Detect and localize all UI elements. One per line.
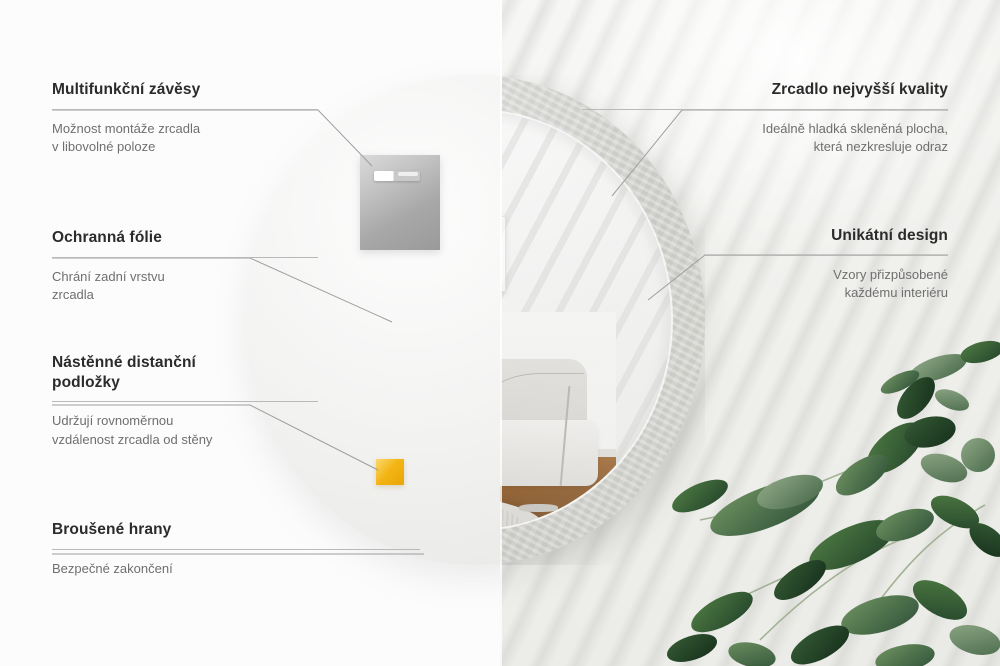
mirror-glass <box>500 111 671 529</box>
reflected-lamp-arc <box>500 373 584 447</box>
feature-block-design: Unikátní design Vzory přizpůsobené každé… <box>705 226 948 303</box>
feature-rule-hangers <box>52 109 318 110</box>
feature-title-film: Ochranná fólie <box>52 228 318 248</box>
infographic-canvas: Multifunkční závěsy Možnost montáže zrca… <box>0 0 1000 666</box>
feature-block-film: Ochranná fólie Chrání zadní vrstvu zrcad… <box>52 228 318 305</box>
feature-block-hangers: Multifunkční závěsy Možnost montáže zrca… <box>52 80 318 157</box>
feature-block-quality: Zrcadlo nejvyšší kvality Ideálně hladká … <box>582 80 948 157</box>
feature-title-quality: Zrcadlo nejvyšší kvality <box>582 80 948 100</box>
yellow-spacer-pad-part <box>376 459 404 485</box>
feature-desc-quality: Ideálně hladká skleněná plocha, která ne… <box>582 120 948 158</box>
feature-desc-hangers: Možnost montáže zrcadla v libovolné polo… <box>52 120 318 158</box>
feature-rule-edges <box>52 549 420 550</box>
hanger-slot-detail <box>374 171 420 181</box>
feature-rule-quality <box>582 109 948 110</box>
feature-desc-edges: Bezpečné zakončení <box>52 560 420 579</box>
split-divider <box>500 0 502 666</box>
reflected-lamp-base <box>519 504 559 512</box>
feature-rule-film <box>52 257 318 258</box>
feature-rule-design <box>705 255 948 256</box>
hanger-bracket-part <box>360 155 440 250</box>
feature-desc-design: Vzory přizpůsobené každému interiéru <box>705 266 948 304</box>
feature-block-edges: Broušené hrany Bezpečné zakončení <box>52 520 420 578</box>
feature-block-spacers: Nástěnné distanční podložky Udržují rovn… <box>52 353 318 450</box>
feature-title-spacers: Nástěnné distanční podložky <box>52 353 318 392</box>
feature-desc-film: Chrání zadní vrstvu zrcadla <box>52 268 318 306</box>
feature-title-hangers: Multifunkční závěsy <box>52 80 318 100</box>
reflected-living-room <box>500 312 616 529</box>
feature-rule-spacers <box>52 401 318 402</box>
feature-title-design: Unikátní design <box>705 226 948 246</box>
feature-desc-spacers: Udržují rovnoměrnou vzdálenost zrcadla o… <box>52 412 318 450</box>
feature-title-edges: Broušené hrany <box>52 520 420 540</box>
